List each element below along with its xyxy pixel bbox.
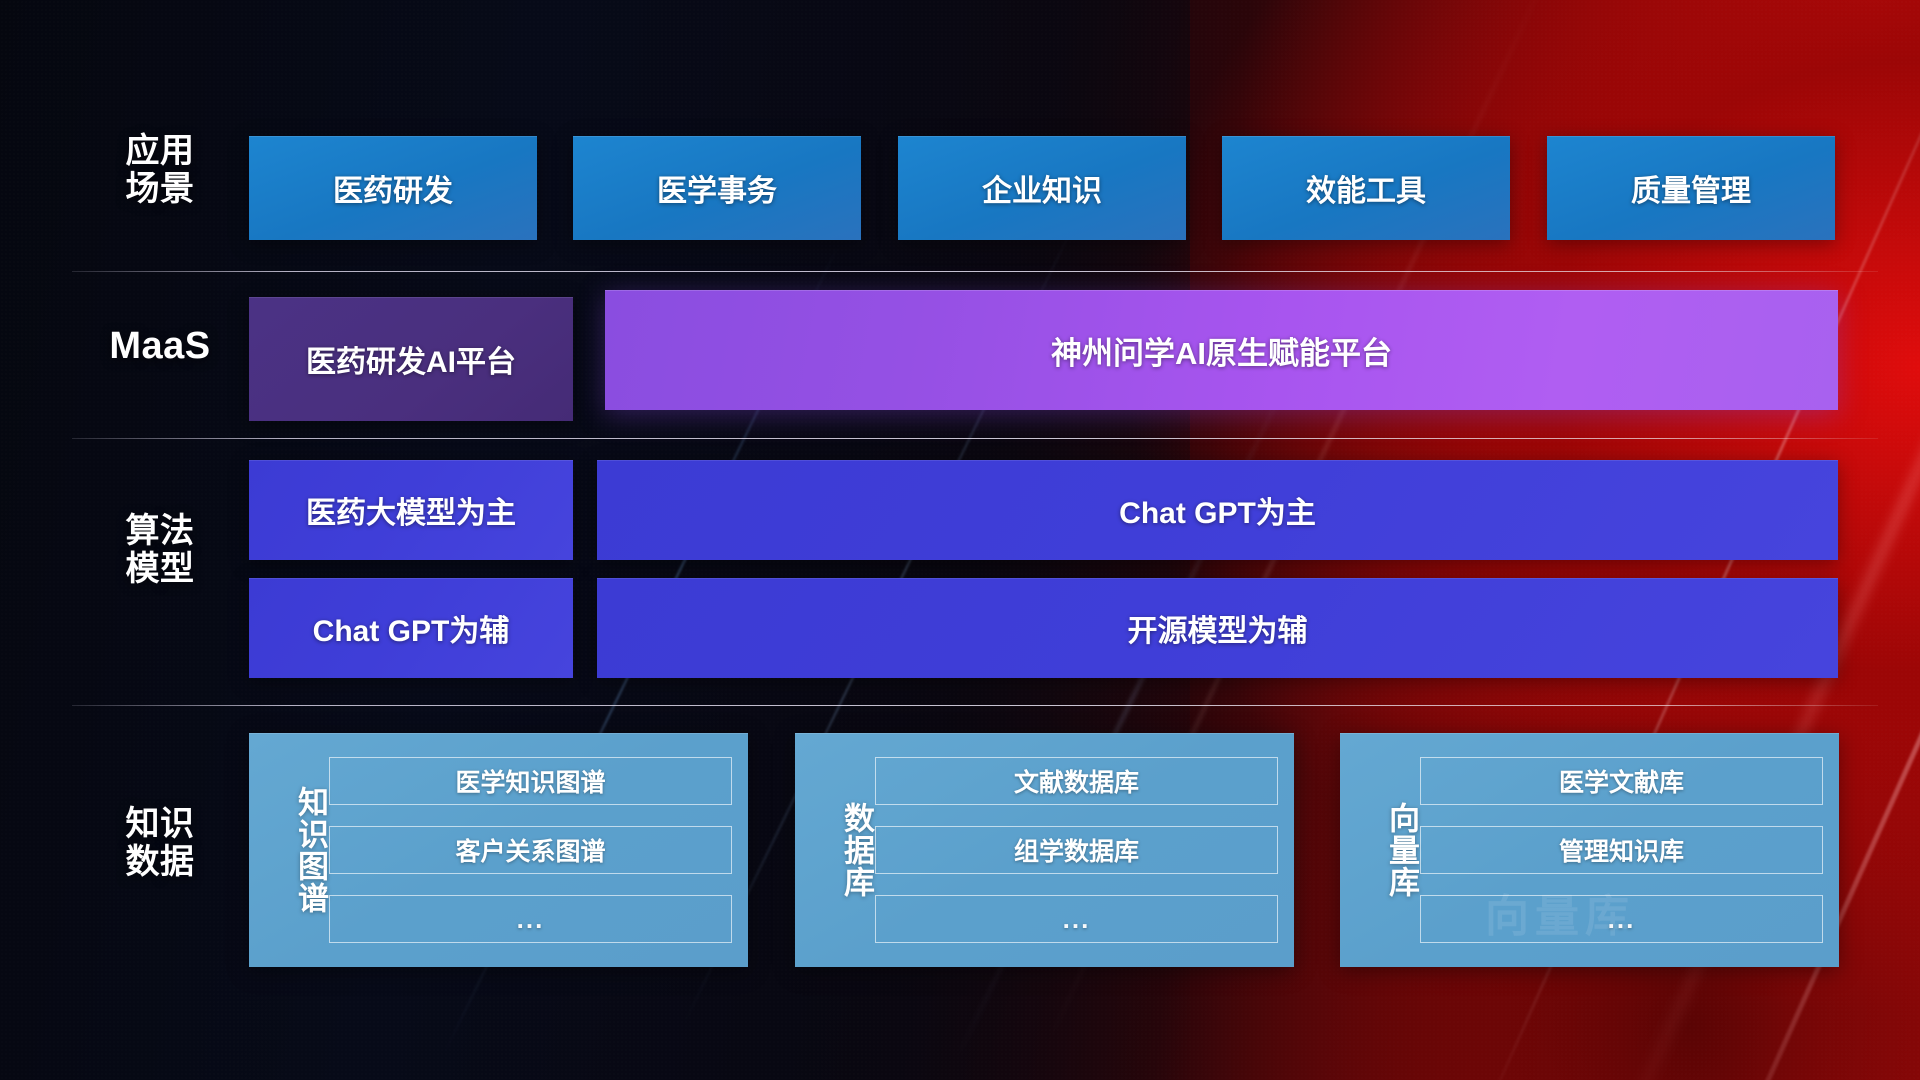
knowledge-items-vector-database: 医学文献库 管理知识库 ... bbox=[1420, 757, 1823, 943]
maas-box-shenzhou-wenxue-platform[interactable]: 神州问学AI原生赋能平台 bbox=[605, 290, 1838, 410]
algo-box-opensource-model-secondary[interactable]: 开源模型为辅 bbox=[597, 578, 1838, 678]
maas-box-medicine-rd-ai-platform[interactable]: 医药研发AI平台 bbox=[249, 297, 573, 421]
row-label-algorithm-model: 算法 模型 bbox=[72, 512, 248, 588]
knowledge-item[interactable]: 医学知识图谱 bbox=[329, 757, 732, 805]
knowledge-items-knowledge-graph: 医学知识图谱 客户关系图谱 ... bbox=[329, 757, 732, 943]
row-label-application-scenarios: 应用 场景 bbox=[72, 132, 248, 208]
row-label-maas: MaaS bbox=[72, 325, 248, 368]
knowledge-item-more[interactable]: ... bbox=[875, 895, 1278, 943]
app-box-medicine-rd[interactable]: 医药研发 bbox=[249, 136, 537, 240]
knowledge-items-database: 文献数据库 组学数据库 ... bbox=[875, 757, 1278, 943]
knowledge-panel-knowledge-graph: 知识图谱 医学知识图谱 客户关系图谱 ... bbox=[249, 733, 748, 967]
knowledge-panel-label-database: 数据库 bbox=[813, 747, 875, 953]
algo-box-chatgpt-secondary[interactable]: Chat GPT为辅 bbox=[249, 578, 573, 678]
knowledge-item[interactable]: 客户关系图谱 bbox=[329, 826, 732, 874]
knowledge-item[interactable]: 医学文献库 bbox=[1420, 757, 1823, 805]
app-box-quality-management[interactable]: 质量管理 bbox=[1547, 136, 1835, 240]
knowledge-panel-label-knowledge-graph: 知识图谱 bbox=[267, 747, 329, 953]
knowledge-panel-vector-database: 向量库 医学文献库 管理知识库 ... bbox=[1340, 733, 1839, 967]
knowledge-item[interactable]: 组学数据库 bbox=[875, 826, 1278, 874]
knowledge-item-more[interactable]: ... bbox=[1420, 895, 1823, 943]
row-divider-2 bbox=[72, 438, 1878, 439]
architecture-diagram: 应用 场景 医药研发 医学事务 企业知识 效能工具 质量管理 MaaS 医药研发… bbox=[0, 0, 1920, 1080]
app-box-enterprise-knowledge[interactable]: 企业知识 bbox=[898, 136, 1186, 240]
row-divider-3 bbox=[72, 705, 1878, 706]
knowledge-item[interactable]: 文献数据库 bbox=[875, 757, 1278, 805]
knowledge-item[interactable]: 管理知识库 bbox=[1420, 826, 1823, 874]
row-label-knowledge-data: 知识 数据 bbox=[72, 805, 248, 881]
app-box-efficiency-tools[interactable]: 效能工具 bbox=[1222, 136, 1510, 240]
knowledge-panel-label-vector-database: 向量库 bbox=[1358, 747, 1420, 953]
algo-box-medicine-large-model-primary[interactable]: 医药大模型为主 bbox=[249, 460, 573, 560]
app-box-medical-affairs[interactable]: 医学事务 bbox=[573, 136, 861, 240]
knowledge-panel-database: 数据库 文献数据库 组学数据库 ... bbox=[795, 733, 1294, 967]
knowledge-item-more[interactable]: ... bbox=[329, 895, 732, 943]
algo-box-chatgpt-primary[interactable]: Chat GPT为主 bbox=[597, 460, 1838, 560]
row-divider-1 bbox=[72, 271, 1878, 272]
